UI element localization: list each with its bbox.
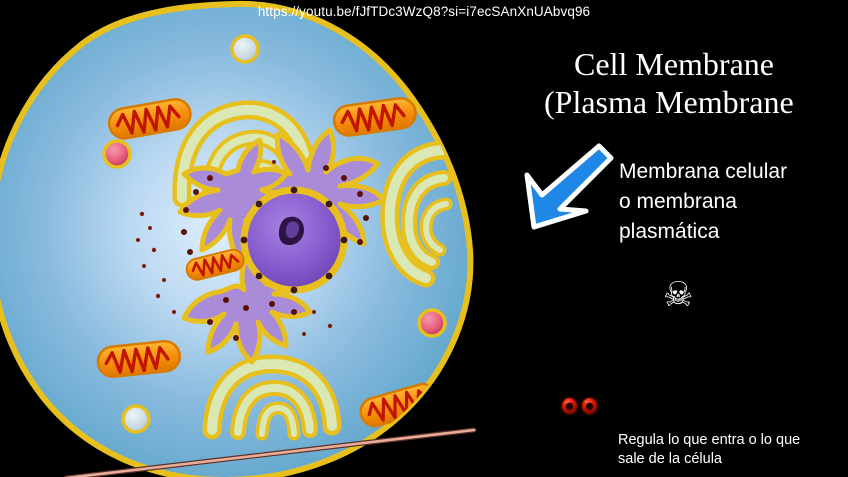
caption-spanish: Regula lo que entra o lo que sale de la … [618,431,848,470]
video-url-overlay: https://youtu.be/fJfTDc3WzQ8?si=i7ecSAnX… [0,4,848,19]
animal-cell-diagram [0,0,514,477]
vesicle-bottom-left [123,406,149,432]
red-dot [582,398,597,414]
title-line-primary: Cell Membrane [500,46,848,84]
slide-canvas: https://youtu.be/fJfTDc3WzQ8?si=i7ecSAnX… [0,0,848,477]
title-line-secondary: (Plasma Membrane [544,84,848,122]
caption-line-1: Regula lo que entra o lo que [618,431,848,450]
vesicle-top [232,36,258,62]
red-dots-group [562,398,597,414]
lysosome-upper-left [104,141,130,167]
subtitle-line-1: Membrana celular [619,157,848,187]
nucleus [241,187,348,294]
slide-title: Cell Membrane (Plasma Membrane [500,46,848,122]
caption-line-2: sale de la célula [618,450,848,469]
arrow-down-left-icon [512,132,620,240]
lysosome-right [419,310,445,336]
subtitle-line-3: plasmática [619,217,848,247]
skull-crossbones-icon: ☠ [663,278,693,312]
red-dot [562,398,577,414]
subtitle-line-2: o membrana [619,187,848,217]
subtitle-spanish: Membrana celular o membrana plasmática [619,157,848,246]
